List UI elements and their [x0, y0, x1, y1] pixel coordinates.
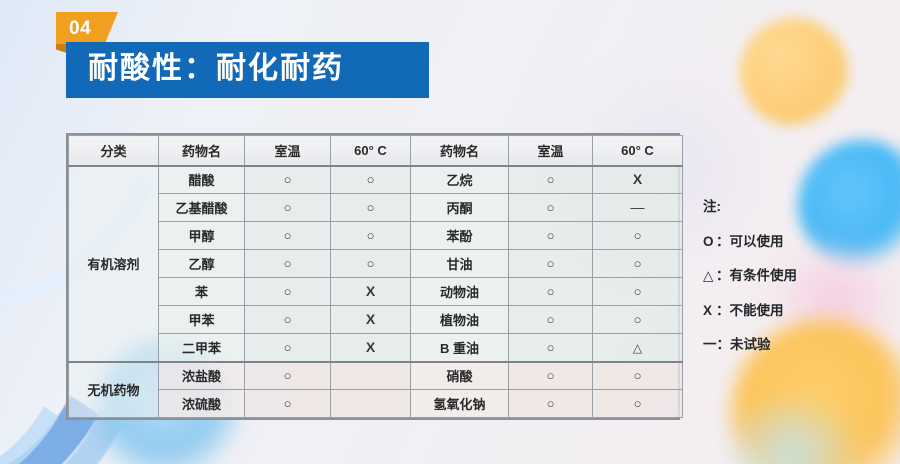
table-row: 甲苯○X植物油○○: [69, 306, 683, 334]
mark-circle: ○: [367, 173, 375, 186]
value-60c-right: ○: [593, 390, 683, 418]
value-60c-left: ○: [331, 166, 411, 194]
mark-circle: ○: [284, 285, 292, 298]
value-60c-right: ○: [593, 250, 683, 278]
drug-name-left: 二甲苯: [159, 334, 245, 362]
value-roomtemp-right: ○: [509, 334, 593, 362]
col-header-60c-left: 60° C: [331, 136, 411, 166]
value-60c-right: X: [593, 166, 683, 194]
drug-name-right: 苯酚: [411, 222, 509, 250]
mark-circle: ○: [634, 397, 642, 410]
table-row: 二甲苯○XB 重油○△: [69, 334, 683, 362]
value-60c-right: ○: [593, 222, 683, 250]
legend-symbol: 一: [703, 338, 717, 352]
mark-circle: ○: [284, 369, 292, 382]
mark-circle: ○: [284, 397, 292, 410]
legend-label: ：可以使用: [716, 234, 784, 249]
mark-cross: X: [633, 172, 642, 186]
value-roomtemp-left: ○: [245, 222, 331, 250]
mark-circle: ○: [367, 201, 375, 214]
blob-blue-right-icon: [798, 140, 900, 270]
legend-item: △：有条件使用: [703, 269, 797, 283]
section-number-badge: 04: [56, 12, 118, 45]
value-roomtemp-right: ○: [509, 362, 593, 390]
mark-cross: X: [366, 284, 375, 298]
value-roomtemp-left: ○: [245, 166, 331, 194]
mark-circle: ○: [547, 341, 555, 354]
mark-circle: ○: [367, 229, 375, 242]
col-header-60c-right: 60° C: [593, 136, 683, 166]
value-roomtemp-right: ○: [509, 194, 593, 222]
col-header-roomtemp-left: 室温: [245, 136, 331, 166]
drug-name-left: 乙醇: [159, 250, 245, 278]
mark-circle: ○: [547, 229, 555, 242]
value-roomtemp-left: ○: [245, 362, 331, 390]
table-row: 无机药物浓盐酸○硝酸○○: [69, 362, 683, 390]
legend-title: 注:: [703, 200, 797, 214]
legend-item: O：可以使用: [703, 235, 797, 249]
value-60c-left: X: [331, 334, 411, 362]
legend-symbol: O: [703, 235, 716, 249]
legend-item: 一：未试验: [703, 338, 797, 352]
mark-circle: ○: [634, 257, 642, 270]
table-row: 浓硫酸○氢氧化钠○○: [69, 390, 683, 418]
mark-circle: ○: [547, 201, 555, 214]
table-header-row: 分类 药物名 室温 60° C 药物名 室温 60° C: [69, 136, 683, 166]
mark-circle: ○: [284, 313, 292, 326]
col-header-category: 分类: [69, 136, 159, 166]
value-roomtemp-left: ○: [245, 278, 331, 306]
blob-orange-top-icon: [740, 18, 848, 126]
value-60c-right: ○: [593, 306, 683, 334]
legend-label: ：有条件使用: [716, 268, 797, 283]
slide-canvas: 04 耐酸性：耐化耐药 分类 药物名 室温 60° C 药物名 室温 60° C: [0, 0, 900, 464]
legend-label: ：未试验: [717, 337, 771, 352]
col-header-roomtemp-right: 室温: [509, 136, 593, 166]
drug-name-right: 硝酸: [411, 362, 509, 390]
value-60c-left: [331, 390, 411, 418]
value-60c-left: X: [331, 306, 411, 334]
drug-name-right: 甘油: [411, 250, 509, 278]
mark-circle: ○: [547, 257, 555, 270]
mark-circle: ○: [634, 369, 642, 382]
drug-name-left: 甲苯: [159, 306, 245, 334]
legend-symbol: X: [703, 304, 716, 318]
mark-circle: ○: [284, 341, 292, 354]
mark-circle: ○: [547, 369, 555, 382]
category-cell: 有机溶剂: [69, 166, 159, 362]
drug-name-right: B 重油: [411, 334, 509, 362]
mark-cross: X: [366, 312, 375, 326]
mark-dash: —: [631, 200, 645, 214]
mark-circle: ○: [284, 257, 292, 270]
value-60c-left: ○: [331, 222, 411, 250]
value-roomtemp-left: ○: [245, 194, 331, 222]
mark-circle: ○: [284, 173, 292, 186]
table-row: 有机溶剂醋酸○○乙烷○X: [69, 166, 683, 194]
mark-circle: ○: [367, 257, 375, 270]
value-roomtemp-right: ○: [509, 390, 593, 418]
table-row: 乙醇○○甘油○○: [69, 250, 683, 278]
mark-circle: ○: [284, 229, 292, 242]
mark-circle: ○: [547, 285, 555, 298]
chemical-resistance-table: 分类 药物名 室温 60° C 药物名 室温 60° C 有机溶剂醋酸○○乙烷○…: [66, 133, 680, 420]
drug-name-right: 丙酮: [411, 194, 509, 222]
drug-name-right: 氢氧化钠: [411, 390, 509, 418]
legend: 注: O：可以使用△：有条件使用X：不能使用一：未试验: [703, 200, 797, 352]
value-roomtemp-right: ○: [509, 278, 593, 306]
value-60c-left: ○: [331, 250, 411, 278]
value-60c-left: ○: [331, 194, 411, 222]
value-roomtemp-right: ○: [509, 222, 593, 250]
drug-name-left: 甲醇: [159, 222, 245, 250]
drug-name-right: 植物油: [411, 306, 509, 334]
drug-name-left: 乙基醋酸: [159, 194, 245, 222]
col-header-drug-right: 药物名: [411, 136, 509, 166]
value-60c-right: ○: [593, 362, 683, 390]
drug-name-left: 浓盐酸: [159, 362, 245, 390]
value-roomtemp-right: ○: [509, 306, 593, 334]
value-roomtemp-left: ○: [245, 250, 331, 278]
legend-item: X：不能使用: [703, 304, 797, 318]
category-cell: 无机药物: [69, 362, 159, 418]
drug-name-left: 苯: [159, 278, 245, 306]
value-60c-right: ○: [593, 278, 683, 306]
value-60c-left: X: [331, 278, 411, 306]
value-60c-right: —: [593, 194, 683, 222]
mark-circle: ○: [547, 173, 555, 186]
value-roomtemp-right: ○: [509, 166, 593, 194]
drug-name-left: 醋酸: [159, 166, 245, 194]
drug-name-right: 动物油: [411, 278, 509, 306]
drug-name-left: 浓硫酸: [159, 390, 245, 418]
value-roomtemp-left: ○: [245, 390, 331, 418]
mark-circle: ○: [634, 285, 642, 298]
value-roomtemp-right: ○: [509, 250, 593, 278]
legend-symbol: △: [703, 269, 716, 283]
value-roomtemp-left: ○: [245, 306, 331, 334]
title-banner: 耐酸性：耐化耐药: [66, 42, 429, 98]
blob-cyan-icon: [716, 404, 866, 464]
table-row: 乙基醋酸○○丙酮○—: [69, 194, 683, 222]
value-60c-left: [331, 362, 411, 390]
table-row: 苯○X动物油○○: [69, 278, 683, 306]
mark-circle: ○: [634, 229, 642, 242]
mark-circle: ○: [547, 397, 555, 410]
mark-circle: ○: [284, 201, 292, 214]
legend-label: ：不能使用: [716, 303, 784, 318]
page-title: 耐酸性：耐化耐药: [88, 53, 407, 85]
value-roomtemp-left: ○: [245, 334, 331, 362]
mark-circle: ○: [547, 313, 555, 326]
mark-circle: ○: [634, 313, 642, 326]
mark-tri: △: [633, 342, 642, 354]
col-header-drug-left: 药物名: [159, 136, 245, 166]
drug-name-right: 乙烷: [411, 166, 509, 194]
title-block: 04 耐酸性：耐化耐药: [56, 12, 429, 98]
table-row: 甲醇○○苯酚○○: [69, 222, 683, 250]
value-60c-right: △: [593, 334, 683, 362]
mark-cross: X: [366, 340, 375, 354]
